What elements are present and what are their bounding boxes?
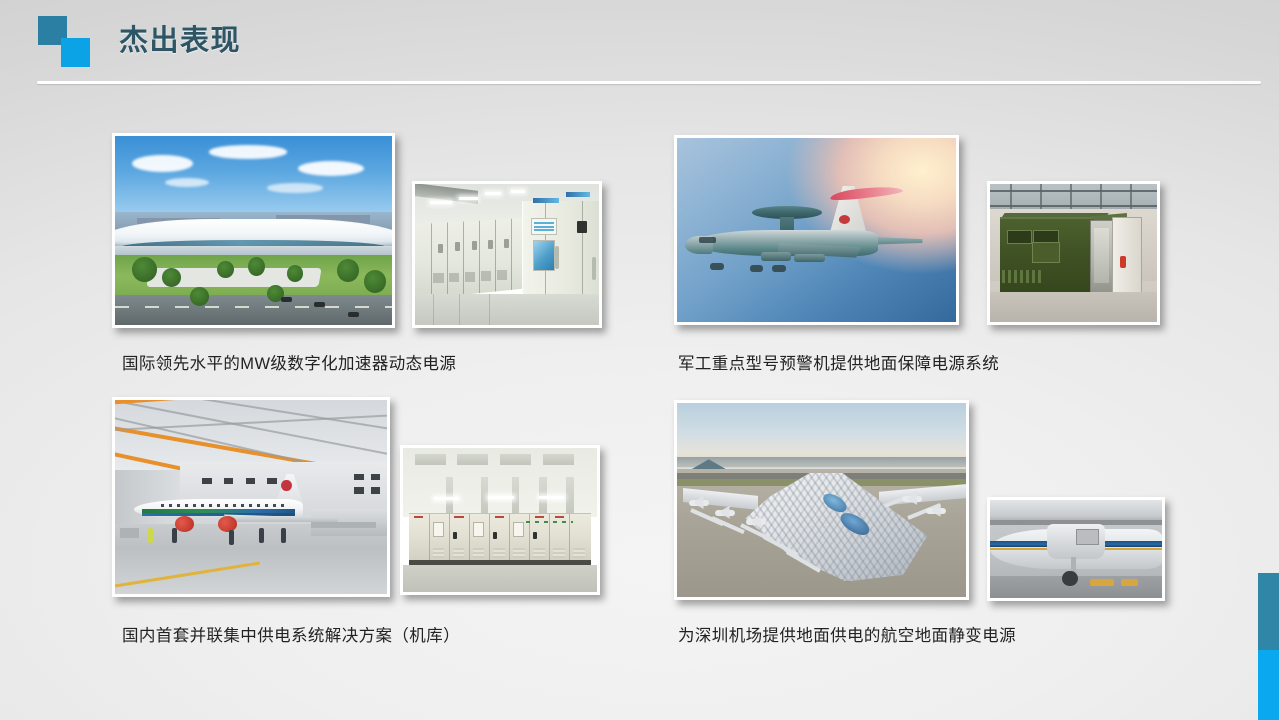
caption-item-1: 国际领先水平的MW级数字化加速器动态电源 xyxy=(122,350,456,374)
power-cabinet-row-photo xyxy=(400,445,600,595)
presentation-slide: 杰出表现 xyxy=(0,0,1279,720)
shenzhen-airport-terminal-photo xyxy=(674,400,969,600)
caption-item-4: 为深圳机场提供地面供电的航空地面静变电源 xyxy=(678,622,1016,646)
caption-item-2: 军工重点型号预警机提供地面保障电源系统 xyxy=(678,350,999,374)
caption-item-3: 国内首套并联集中供电系统解决方案（机库） xyxy=(122,622,460,646)
page-title: 杰出表现 xyxy=(119,17,241,59)
aircraft-hangar-photo xyxy=(112,397,390,597)
stadium-arena-photo xyxy=(112,133,395,328)
slide-header: 杰出表现 xyxy=(0,0,1279,90)
green-military-shelter-photo xyxy=(987,181,1160,325)
aircraft-belly-ground-power-photo xyxy=(987,497,1165,601)
header-divider xyxy=(37,81,1261,84)
right-accent-bar-bright xyxy=(1258,650,1279,720)
right-accent-bar-teal xyxy=(1258,573,1279,650)
awacs-aircraft-photo xyxy=(674,135,959,325)
control-cabinet-room-photo xyxy=(412,181,602,328)
logo-square-bright-icon xyxy=(61,38,90,67)
